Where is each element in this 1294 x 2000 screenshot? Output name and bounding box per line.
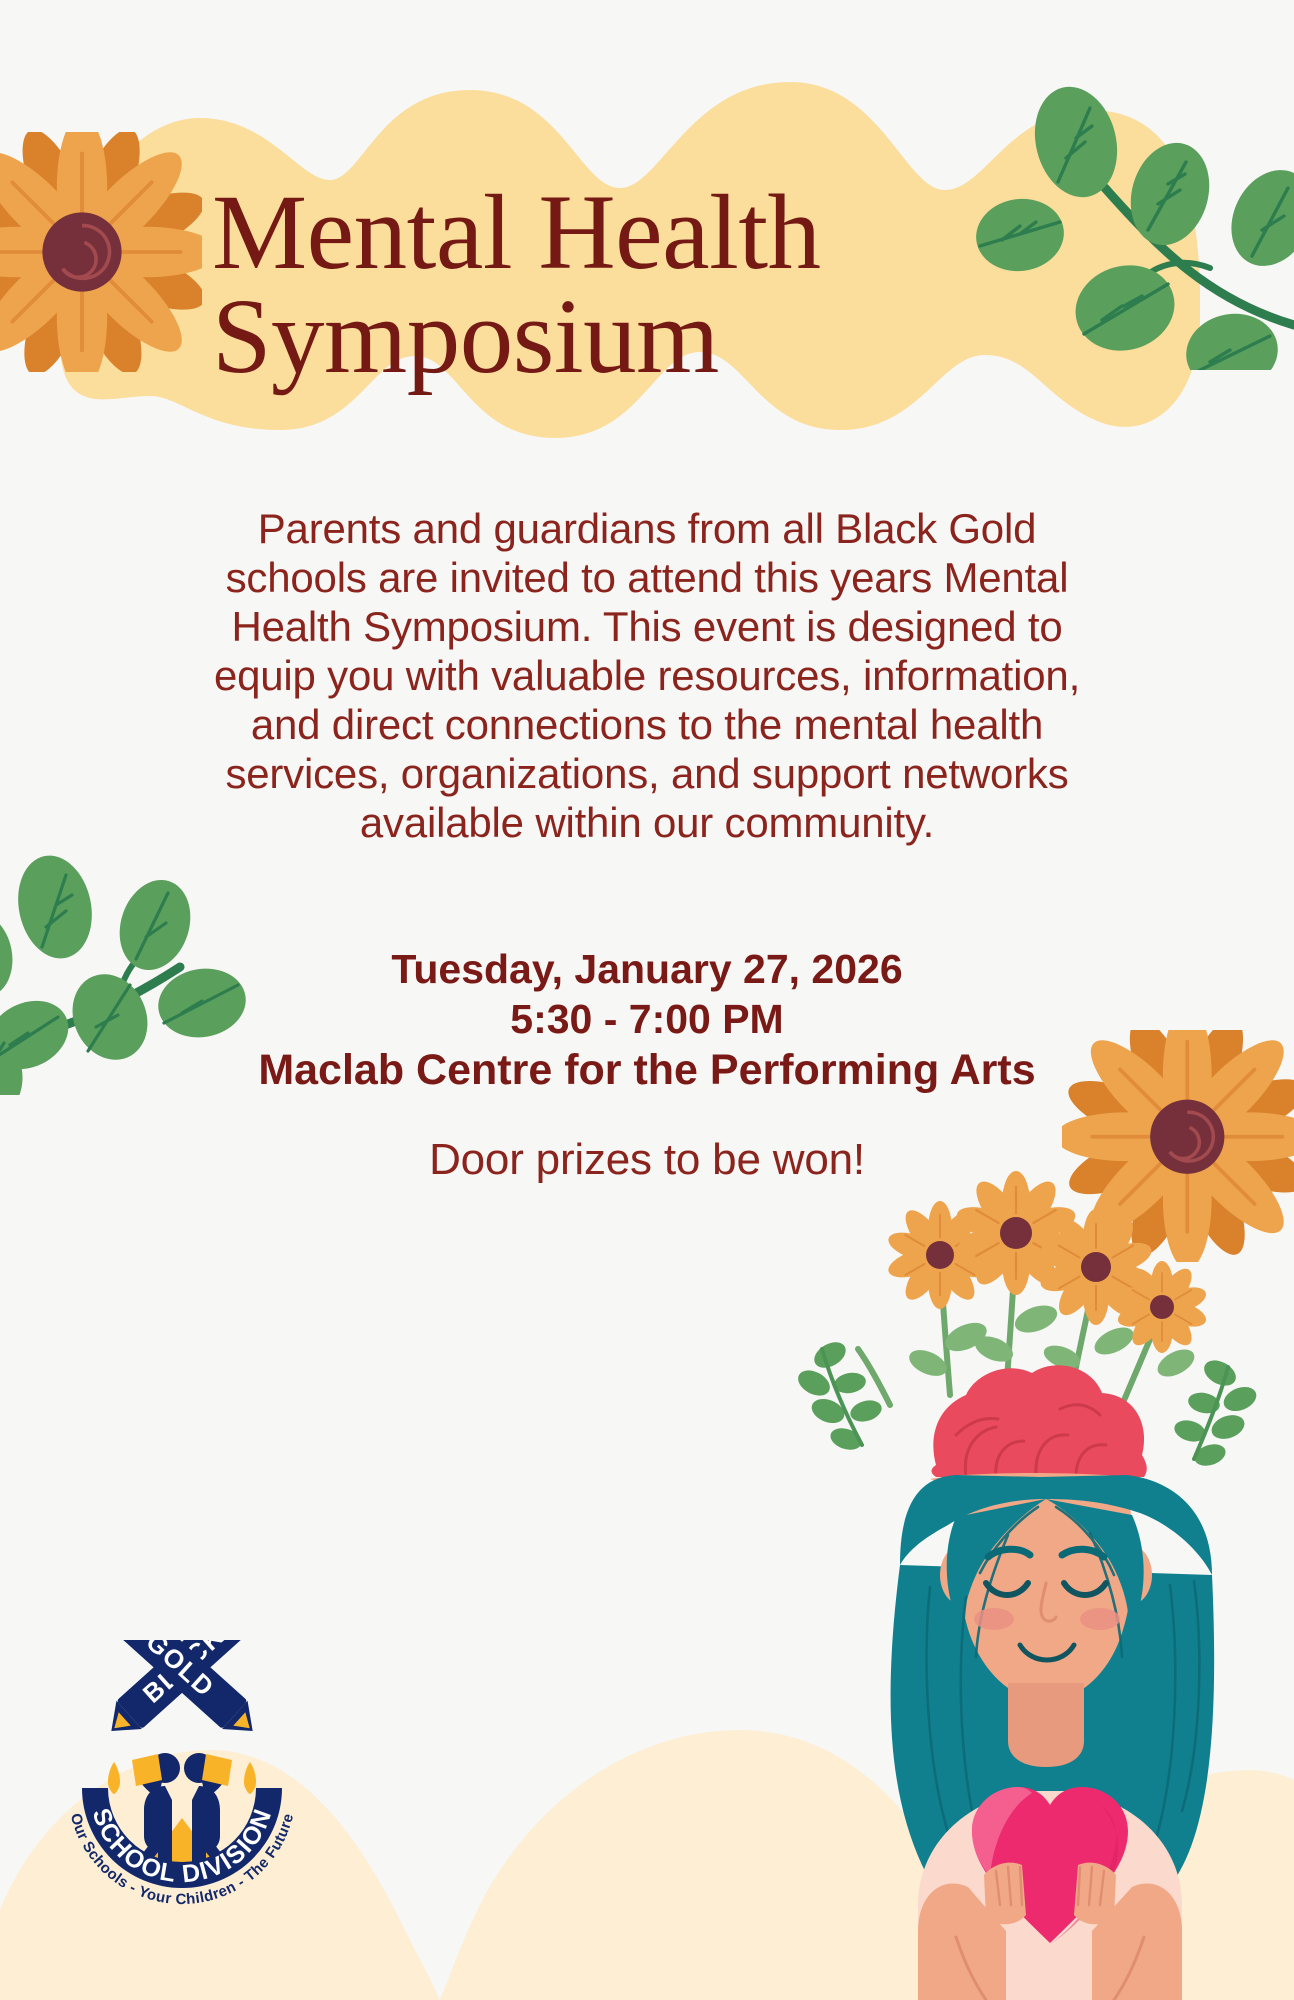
event-details: Tuesday, January 27, 2026 5:30 - 7:00 PM… (97, 944, 1197, 1096)
body-line: schools are invited to attend this years… (187, 554, 1107, 603)
body-line: Health Symposium. This event is designed… (187, 603, 1107, 652)
sunflower-icon (0, 132, 202, 372)
event-time: 5:30 - 7:00 PM (97, 994, 1197, 1044)
brain-icon (930, 1365, 1148, 1486)
body-line: Parents and guardians from all Black Gol… (187, 505, 1107, 554)
body-line: equip you with valuable resources, infor… (187, 652, 1107, 701)
eucalyptus-branch-icon (880, 70, 1294, 370)
black-gold-school-division-logo: BLACK GOLD (52, 1640, 312, 1910)
event-venue: Maclab Centre for the Performing Arts (97, 1044, 1197, 1096)
body-line: and direct connections to the mental hea… (187, 701, 1107, 750)
event-date: Tuesday, January 27, 2026 (97, 944, 1197, 994)
body-line: services, organizations, and support net… (187, 750, 1107, 799)
body-line: available within our community. (187, 799, 1107, 848)
woman-open-mind-holding-heart-illustration (770, 1105, 1294, 2000)
poster-canvas: Mental Health Symposium (0, 0, 1294, 2000)
body-paragraph: Parents and guardians from all Black Gol… (187, 505, 1107, 847)
